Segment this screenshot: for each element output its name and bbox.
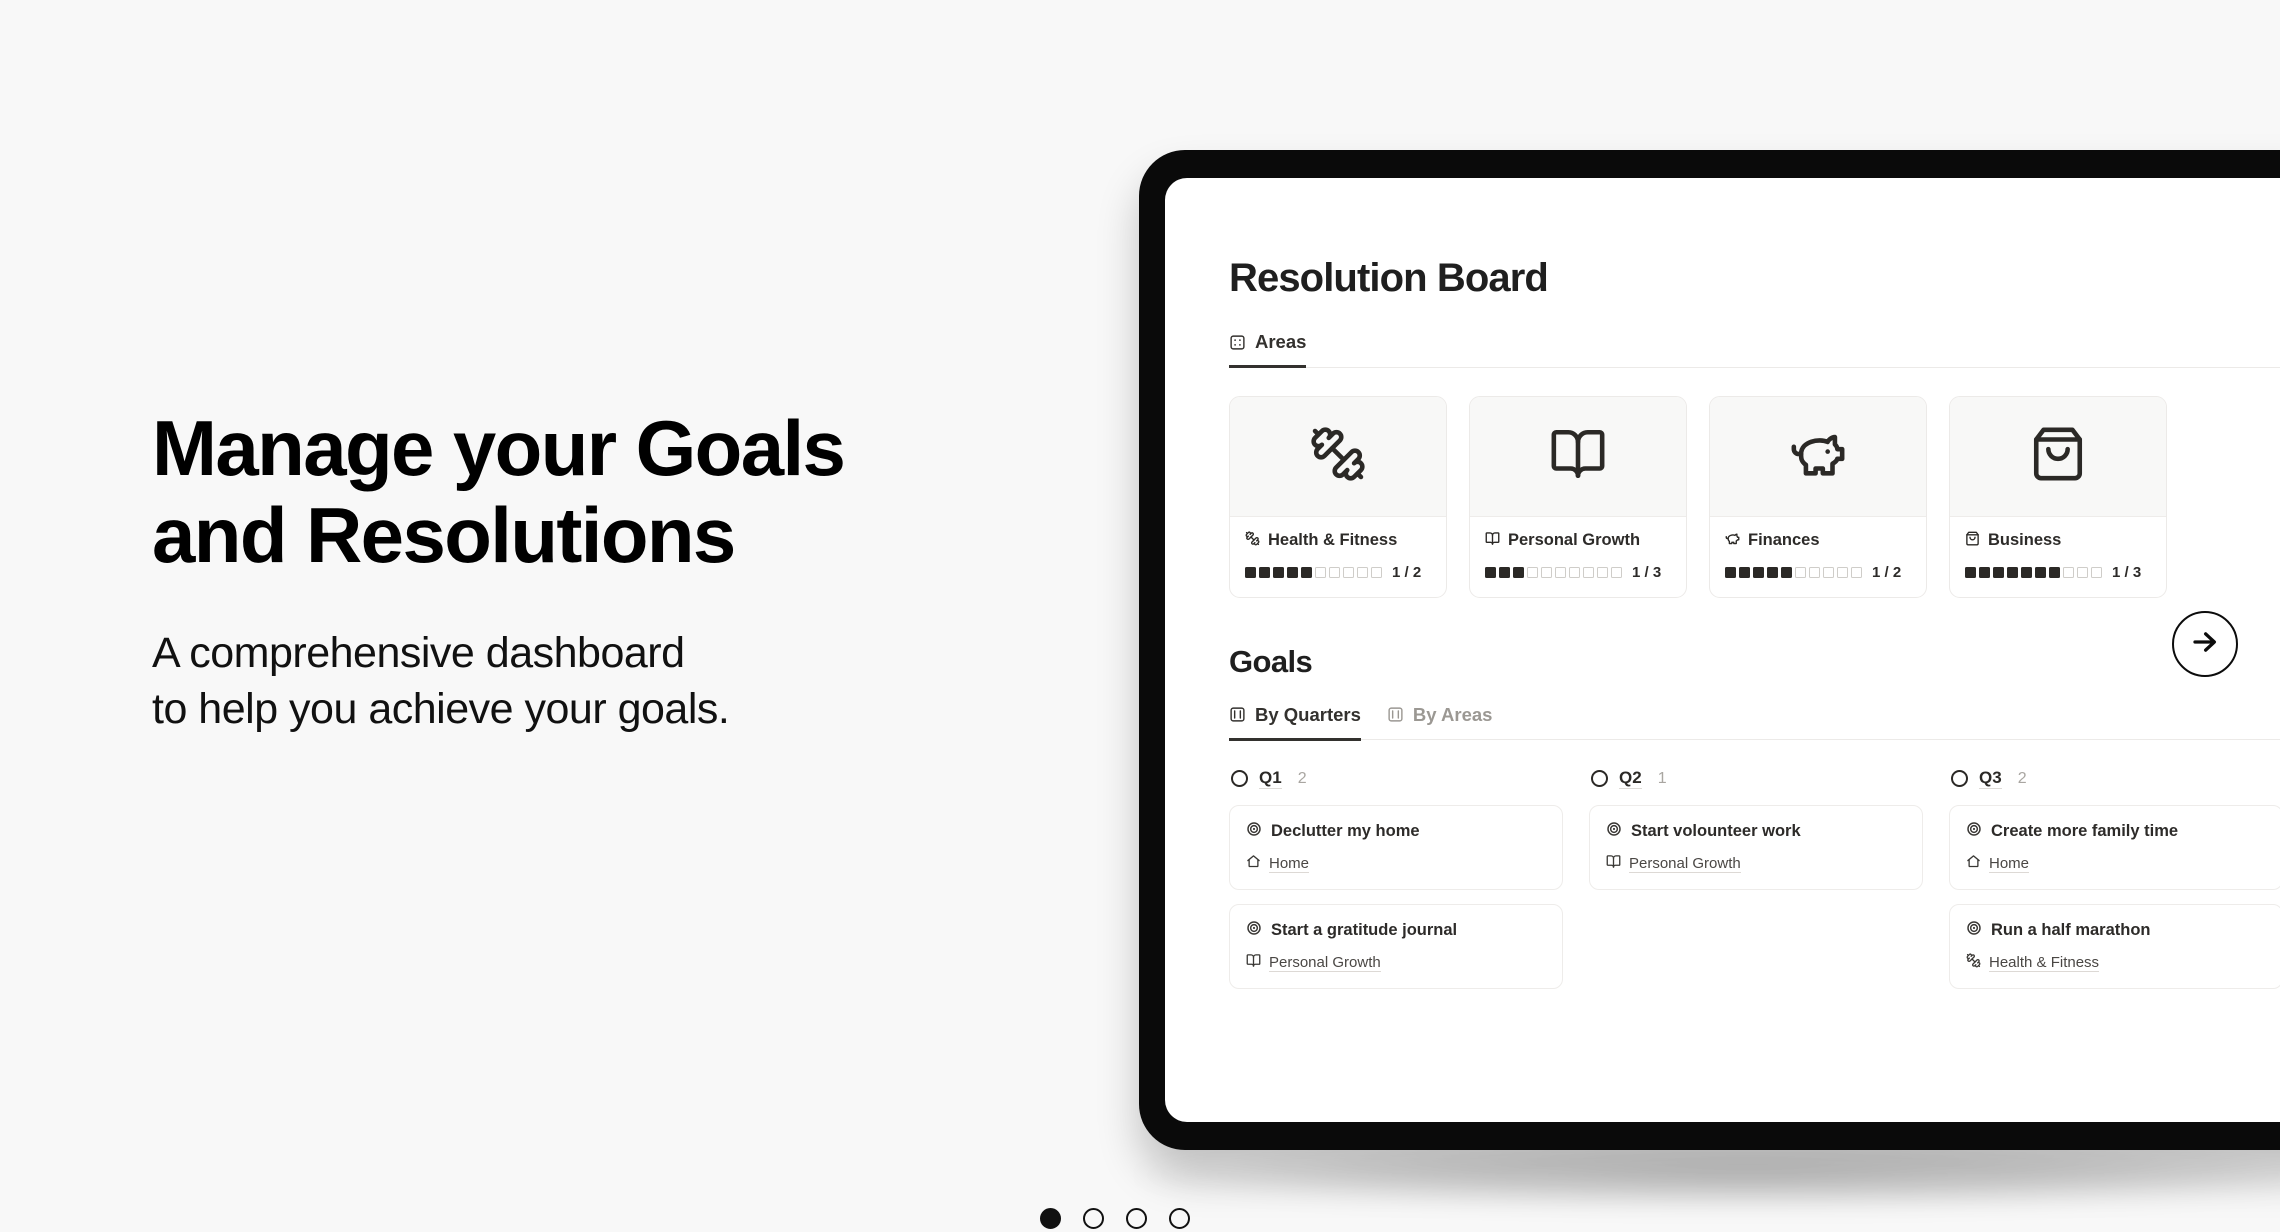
carousel-dots xyxy=(1040,1208,1190,1229)
quarter-count: 2 xyxy=(2018,770,2027,788)
area-thumbnail xyxy=(1230,397,1446,517)
goal-title: Declutter my home xyxy=(1271,822,1420,841)
progress-bar: 1 / 3 xyxy=(1965,564,2151,581)
area-thumbnail xyxy=(1710,397,1926,517)
dumbbell-icon xyxy=(1309,425,1367,488)
hero-subtitle-line-2: to help you achieve your goals. xyxy=(152,685,729,733)
goal-name-row: Start volounteer work xyxy=(1606,821,1906,842)
tablet-device-frame: Resolution Board Areas xyxy=(1139,150,2280,1150)
goal-card[interactable]: Declutter my home Home xyxy=(1229,805,1563,890)
area-name-label: Finances xyxy=(1748,531,1820,550)
arrow-right-icon xyxy=(2190,627,2220,662)
hero-subtitle-line-1: A comprehensive dashboard xyxy=(152,629,685,677)
target-icon xyxy=(1966,920,1982,941)
board-view-icon xyxy=(1387,706,1404,723)
area-thumbnail xyxy=(1470,397,1686,517)
area-name-row: Health & Fitness xyxy=(1245,531,1431,551)
goal-title: Run a half marathon xyxy=(1991,921,2151,940)
page-title: Manage your Goals and Resolutions xyxy=(152,405,1072,580)
progress-bar: 1 / 2 xyxy=(1725,564,1911,581)
goal-name-row: Create more family time xyxy=(1966,821,2266,842)
goal-area-tag[interactable]: Home xyxy=(1966,854,2266,873)
quarter-column-q2: Q2 1 Start volounteer work xyxy=(1589,768,1923,904)
carousel-dot-4[interactable] xyxy=(1169,1208,1190,1229)
areas-card-row: Health & Fitness 1 / 2 xyxy=(1229,396,2280,598)
briefcase-icon xyxy=(1965,531,1980,551)
goals-title: Goals xyxy=(1229,644,2280,680)
quarter-column-q1: Q1 2 Declutter my home xyxy=(1229,768,1563,1003)
dumbbell-icon xyxy=(1966,953,1981,972)
goals-tabbar: By Quarters By Areas xyxy=(1229,704,2280,741)
goal-card[interactable]: Start a gratitude journal Personal Growt… xyxy=(1229,904,1563,989)
open-book-icon xyxy=(1485,531,1500,551)
quarters-columns: Q1 2 Declutter my home xyxy=(1229,768,2280,1003)
target-icon xyxy=(1246,821,1262,842)
tab-by-quarters[interactable]: By Quarters xyxy=(1229,704,1361,741)
open-book-icon xyxy=(1549,425,1607,488)
target-icon xyxy=(1246,920,1262,941)
dumbbell-icon xyxy=(1245,531,1260,551)
quarter-name: Q1 xyxy=(1259,768,1282,789)
goal-card[interactable]: Start volounteer work Personal Growth xyxy=(1589,805,1923,890)
quarter-count: 2 xyxy=(1298,770,1307,788)
area-name-row: Personal Growth xyxy=(1485,531,1671,551)
tablet-drop-shadow xyxy=(1128,1140,2280,1210)
goal-title: Start a gratitude journal xyxy=(1271,921,1457,940)
goal-area-label: Home xyxy=(1269,855,1309,873)
board-title: Resolution Board xyxy=(1229,256,2280,301)
quarter-header[interactable]: Q1 2 xyxy=(1229,768,1563,789)
area-card-finances[interactable]: Finances 1 / 2 xyxy=(1709,396,1927,598)
progress-bar: 1 / 3 xyxy=(1485,564,1671,581)
quarter-header[interactable]: Q3 2 xyxy=(1949,768,2280,789)
progress-fraction: 1 / 2 xyxy=(1872,564,1901,581)
area-card-body: Business 1 / 3 xyxy=(1950,517,2166,597)
tab-areas-label: Areas xyxy=(1255,331,1306,353)
tab-by-areas-label: By Areas xyxy=(1413,704,1493,726)
carousel-dot-3[interactable] xyxy=(1126,1208,1147,1229)
goal-area-tag[interactable]: Health & Fitness xyxy=(1966,953,2266,972)
quarter-name: Q3 xyxy=(1979,768,2002,789)
area-name-row: Business xyxy=(1965,531,2151,551)
quarter-count: 1 xyxy=(1658,770,1667,788)
circle-icon xyxy=(1951,770,1968,787)
goal-name-row: Declutter my home xyxy=(1246,821,1546,842)
carousel-dot-1[interactable] xyxy=(1040,1208,1061,1229)
circle-icon xyxy=(1231,770,1248,787)
hero-section: Manage your Goals and Resolutions A comp… xyxy=(152,405,1072,738)
area-card-health-fitness[interactable]: Health & Fitness 1 / 2 xyxy=(1229,396,1447,598)
tablet-screen: Resolution Board Areas xyxy=(1165,178,2280,1122)
area-name-label: Health & Fitness xyxy=(1268,531,1397,550)
house-icon xyxy=(1966,854,1981,873)
circle-icon xyxy=(1591,770,1608,787)
next-area-button[interactable] xyxy=(2172,611,2238,677)
gallery-grid-icon xyxy=(1229,334,1246,351)
goal-area-tag[interactable]: Home xyxy=(1246,854,1546,873)
briefcase-icon xyxy=(2029,425,2087,488)
quarter-header[interactable]: Q2 1 xyxy=(1589,768,1923,789)
goal-title: Create more family time xyxy=(1991,822,2178,841)
area-card-business[interactable]: Business 1 / 3 xyxy=(1949,396,2167,598)
goal-name-row: Start a gratitude journal xyxy=(1246,920,1546,941)
goal-area-tag[interactable]: Personal Growth xyxy=(1606,854,1906,873)
board-view-icon xyxy=(1229,706,1246,723)
app-content: Resolution Board Areas xyxy=(1229,256,2280,1122)
tab-by-quarters-label: By Quarters xyxy=(1255,704,1361,726)
target-icon xyxy=(1966,821,1982,842)
open-book-icon xyxy=(1246,953,1261,972)
progress-bar: 1 / 2 xyxy=(1245,564,1431,581)
area-name-label: Personal Growth xyxy=(1508,531,1640,550)
area-name-label: Business xyxy=(1988,531,2061,550)
progress-fraction: 1 / 3 xyxy=(2112,564,2141,581)
hero-title-line-2: and Resolutions xyxy=(152,491,735,579)
area-card-body: Personal Growth 1 / 3 xyxy=(1470,517,1686,597)
goal-area-label: Home xyxy=(1989,855,2029,873)
goal-area-label: Personal Growth xyxy=(1629,855,1741,873)
goal-card[interactable]: Run a half marathon xyxy=(1949,904,2280,989)
progress-fraction: 1 / 2 xyxy=(1392,564,1421,581)
area-card-body: Finances 1 / 2 xyxy=(1710,517,1926,597)
goal-name-row: Run a half marathon xyxy=(1966,920,2266,941)
goal-area-label: Health & Fitness xyxy=(1989,954,2099,972)
tab-by-areas[interactable]: By Areas xyxy=(1387,704,1493,741)
area-name-row: Finances xyxy=(1725,531,1911,551)
goal-title: Start volounteer work xyxy=(1631,822,1801,841)
piggy-bank-icon xyxy=(1725,531,1740,551)
area-thumbnail xyxy=(1950,397,2166,517)
tab-areas[interactable]: Areas xyxy=(1229,331,1306,368)
quarter-name: Q2 xyxy=(1619,768,1642,789)
open-book-icon xyxy=(1606,854,1621,873)
area-card-body: Health & Fitness 1 / 2 xyxy=(1230,517,1446,597)
piggy-bank-icon xyxy=(1789,425,1847,488)
area-card-personal-growth[interactable]: Personal Growth 1 / 3 xyxy=(1469,396,1687,598)
progress-fraction: 1 / 3 xyxy=(1632,564,1661,581)
goal-area-label: Personal Growth xyxy=(1269,954,1381,972)
areas-tabbar: Areas xyxy=(1229,331,2280,368)
goal-area-tag[interactable]: Personal Growth xyxy=(1246,953,1546,972)
house-icon xyxy=(1246,854,1261,873)
target-icon xyxy=(1606,821,1622,842)
carousel-dot-2[interactable] xyxy=(1083,1208,1104,1229)
quarter-column-q3: Q3 2 Create more family time xyxy=(1949,768,2280,1003)
hero-subtitle: A comprehensive dashboard to help you ac… xyxy=(152,626,1072,738)
hero-title-line-1: Manage your Goals xyxy=(152,404,844,492)
goal-card[interactable]: Create more family time Home xyxy=(1949,805,2280,890)
